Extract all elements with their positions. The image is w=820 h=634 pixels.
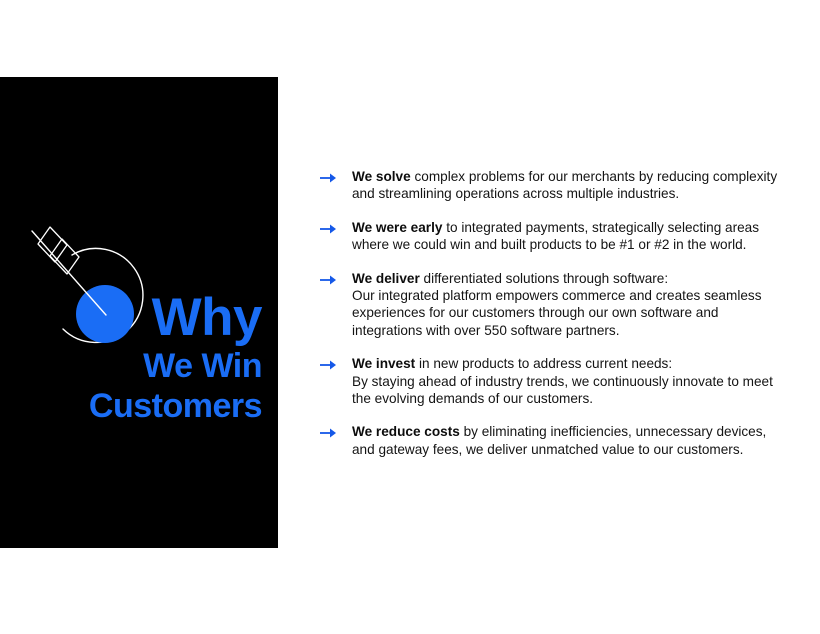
- list-item-text: We invest in new products to address cur…: [352, 355, 790, 407]
- arrow-right-icon: [320, 168, 352, 184]
- list-item-rest: in new products to address current needs…: [415, 356, 672, 371]
- list-item-text: We solve complex problems for our mercha…: [352, 168, 790, 203]
- page-title-line-1: Why: [89, 290, 262, 346]
- list-item: We were early to integrated payments, st…: [320, 219, 790, 254]
- arrow-right-icon: [320, 270, 352, 286]
- arrow-right-icon: [320, 423, 352, 439]
- list-item-sub: By staying ahead of industry trends, we …: [352, 373, 790, 408]
- list-item-text: We were early to integrated payments, st…: [352, 219, 790, 254]
- list-item-lead: We deliver: [352, 271, 420, 286]
- hero-panel: Why We Win Customers: [0, 77, 278, 548]
- list-item-rest: differentiated solutions through softwar…: [420, 271, 668, 286]
- list-item: We deliver differentiated solutions thro…: [320, 270, 790, 340]
- list-item-text: We reduce costs by eliminating inefficie…: [352, 423, 790, 458]
- list-item: We solve complex problems for our mercha…: [320, 168, 790, 203]
- list-item-lead: We were early: [352, 220, 442, 235]
- slide-root: Why We Win Customers We solve complex pr…: [0, 0, 820, 634]
- list-item: We invest in new products to address cur…: [320, 355, 790, 407]
- list-item-lead: We reduce costs: [352, 424, 460, 439]
- list-item-text: We deliver differentiated solutions thro…: [352, 270, 790, 340]
- list-item: We reduce costs by eliminating inefficie…: [320, 423, 790, 458]
- bullet-list: We solve complex problems for our mercha…: [320, 168, 790, 458]
- page-title-line-2: We Win: [89, 346, 262, 386]
- list-item-lead: We solve: [352, 169, 411, 184]
- page-title: Why We Win Customers: [89, 290, 262, 426]
- arrow-right-icon: [320, 355, 352, 371]
- list-item-lead: We invest: [352, 356, 415, 371]
- list-item-sub: Our integrated platform empowers commerc…: [352, 287, 790, 339]
- list-item-rest: complex problems for our merchants by re…: [352, 169, 777, 201]
- page-title-line-3: Customers: [89, 386, 262, 426]
- arrow-right-icon: [320, 219, 352, 235]
